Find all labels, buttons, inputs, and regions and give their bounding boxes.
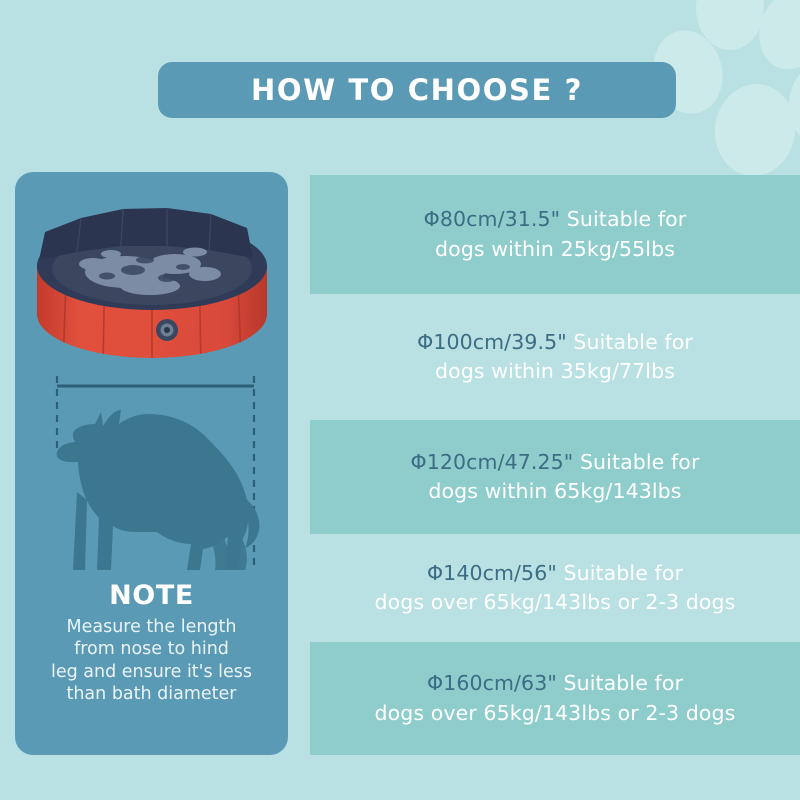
- size-suitability-line1: Suitable for: [567, 330, 693, 354]
- size-dimension: Φ160cm/63": [427, 671, 557, 695]
- size-suitability-line2: dogs over 65kg/143lbs or 2-3 dogs: [375, 701, 736, 725]
- size-suitability-line1: Suitable for: [560, 207, 686, 231]
- size-row-text: Φ80cm/31.5" Suitable for dogs within 25k…: [424, 205, 687, 263]
- size-row-text: Φ140cm/56" Suitable for dogs over 65kg/1…: [375, 559, 736, 617]
- note-heading: NOTE: [15, 580, 288, 611]
- size-dimension: Φ100cm/39.5": [417, 330, 567, 354]
- dog-length-measurement-diagram: [15, 368, 288, 586]
- size-dimension: Φ140cm/56": [427, 561, 557, 585]
- note-line-4: than bath diameter: [23, 683, 280, 705]
- header-banner: HOW TO CHOOSE ?: [158, 62, 676, 118]
- size-row-text: Φ160cm/63" Suitable for dogs over 65kg/1…: [375, 669, 736, 727]
- size-suitability-line2: dogs within 65kg/143lbs: [428, 479, 681, 503]
- size-suitability-line2: dogs within 25kg/55lbs: [435, 237, 675, 261]
- dog-silhouette: [57, 410, 260, 570]
- size-suitability-line1: Suitable for: [557, 671, 683, 695]
- note-block: NOTE Measure the length from nose to hin…: [15, 580, 288, 706]
- size-row-80cm: Φ80cm/31.5" Suitable for dogs within 25k…: [310, 175, 800, 294]
- note-line-1: Measure the length: [23, 616, 280, 638]
- foldable-dog-pool-photo: [15, 174, 288, 382]
- size-suitability-line2: dogs within 35kg/77lbs: [435, 359, 675, 383]
- size-suitability-line1: Suitable for: [557, 561, 683, 585]
- size-row-120cm: Φ120cm/47.25" Suitable for dogs within 6…: [310, 420, 800, 534]
- size-row-text: Φ100cm/39.5" Suitable for dogs within 35…: [417, 328, 693, 386]
- left-info-panel: NOTE Measure the length from nose to hin…: [15, 172, 288, 755]
- size-dimension: Φ120cm/47.25": [411, 450, 574, 474]
- page-title: HOW TO CHOOSE ?: [251, 73, 583, 107]
- size-dimension: Φ80cm/31.5": [424, 207, 561, 231]
- size-row-160cm: Φ160cm/63" Suitable for dogs over 65kg/1…: [310, 642, 800, 755]
- note-body: Measure the length from nose to hind leg…: [15, 616, 288, 706]
- note-line-3: leg and ensure it's less: [23, 661, 280, 683]
- size-row-100cm: Φ100cm/39.5" Suitable for dogs within 35…: [310, 294, 800, 420]
- note-line-2: from nose to hind: [23, 638, 280, 660]
- size-row-text: Φ120cm/47.25" Suitable for dogs within 6…: [411, 448, 700, 506]
- size-suitability-line2: dogs over 65kg/143lbs or 2-3 dogs: [375, 590, 736, 614]
- size-recommendation-table: Φ80cm/31.5" Suitable for dogs within 25k…: [310, 175, 800, 755]
- size-row-140cm: Φ140cm/56" Suitable for dogs over 65kg/1…: [310, 534, 800, 642]
- size-suitability-line1: Suitable for: [573, 450, 699, 474]
